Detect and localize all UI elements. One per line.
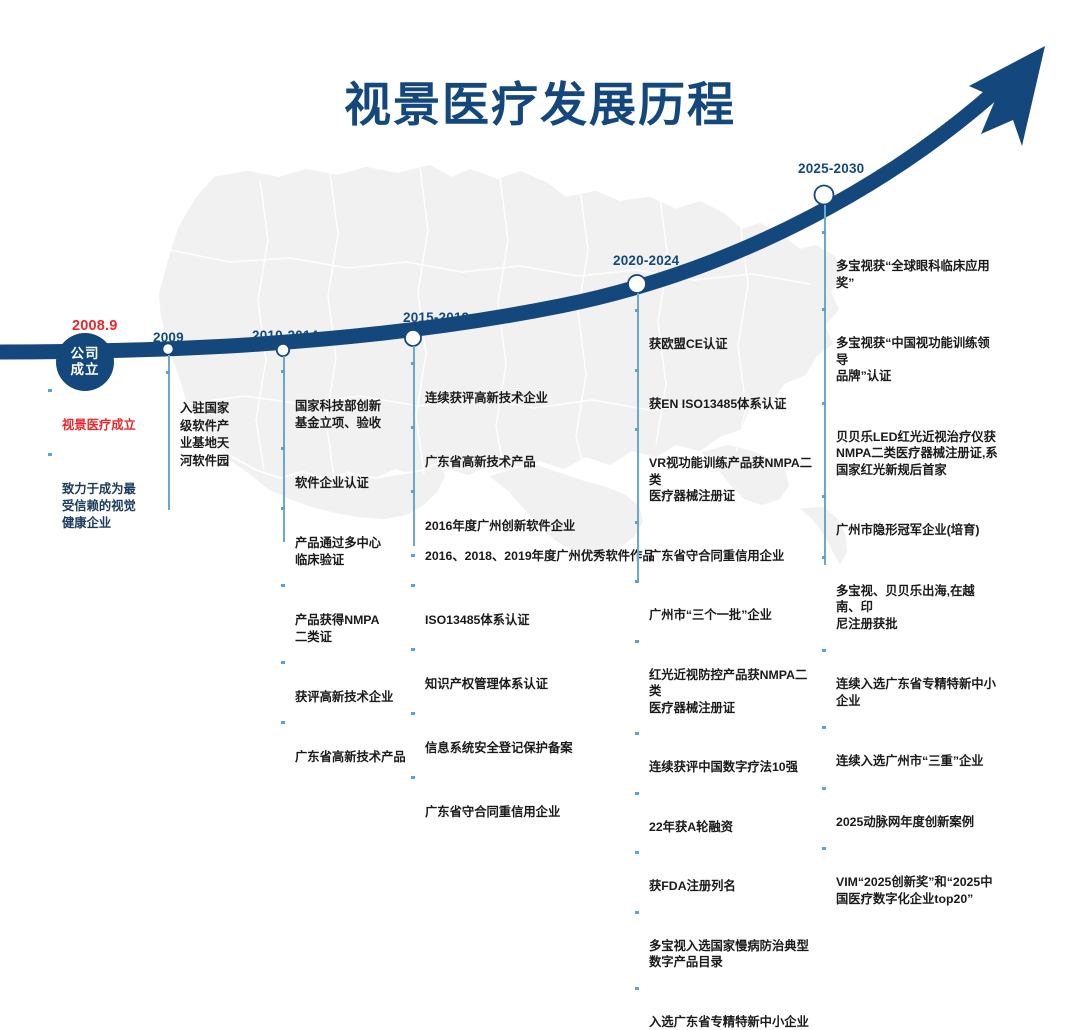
list-item: 产品获得NMPA 二类证 [283, 578, 419, 646]
list-item-text: 2016年度广州创新软件企业 [425, 519, 575, 533]
bullet-icon [635, 640, 638, 643]
bullet-icon [822, 556, 825, 559]
list-item-text: 22年获A轮融资 [649, 820, 733, 834]
list-item: 广东省高新技术产品 [413, 420, 613, 471]
list-item: 多宝视、贝贝乐出海,在越南、印 尼注册获批 [824, 550, 999, 633]
list-item-text: 知识产权管理体系认证 [425, 677, 548, 691]
list-item-text: 广州市隐形冠军企业(培育) [836, 523, 979, 537]
bullet-icon [635, 851, 638, 854]
list-item-text: 连续获评中国数字疗法10强 [649, 760, 798, 774]
bullet-icon [635, 792, 638, 795]
list-item-text: 多宝视获“全球眼科临床应用奖” [836, 259, 990, 290]
list-item-text: 视景医疗成立 [62, 418, 136, 432]
list-item-text: 多宝视、贝贝乐出海,在越南、印 尼注册获批 [836, 584, 975, 631]
founding-node-line2: 成立 [71, 362, 100, 378]
list-item-text: 连续入选广东省专精特新中小 企业 [836, 677, 996, 708]
list-item: 连续入选广州市“三重”企业 [824, 720, 999, 770]
timeline-infographic: 视景医疗发展历程 2008.9 公司 成立 视景医疗成立 致力于成为最 受信赖的… [0, 0, 1080, 609]
list-item: 红光近视防控产品获NMPA二类 医疗器械注册证 [637, 634, 817, 717]
list-item: 广东省高新技术产品 [283, 715, 419, 766]
bullet-icon [281, 584, 284, 587]
list-item: 产品通过多中心 临床验证 [283, 501, 419, 569]
list-item-text: 信息系统安全登记保护备案 [425, 741, 573, 755]
bullet-icon [635, 309, 638, 312]
list-item: 致力于成为最 受信赖的视觉 健康企业 [50, 447, 170, 532]
list-item-text: 产品获得NMPA 二类证 [295, 613, 379, 644]
bullet-icon [48, 453, 51, 456]
bullet-icon [635, 369, 638, 372]
year-label-2010-2014: 2010-2014 [252, 328, 318, 343]
list-item: 连续获评高新技术企业 [413, 356, 613, 407]
list-item-text: 获评高新技术企业 [295, 690, 393, 704]
bullet-icon [411, 776, 414, 779]
bullet-icon [822, 402, 825, 405]
list-item-text: 连续获评高新技术企业 [425, 391, 548, 405]
list-item-text: 获FDA注册列名 [649, 879, 736, 893]
list-item-text: 2016、2018、2019年度广州优秀软件作品 [425, 549, 655, 563]
node-ring-2009 [162, 343, 173, 354]
list-item: 广东省守合同重信用企业 [637, 515, 817, 565]
bullet-icon [411, 712, 414, 715]
list-item-text: 广州市“三个一批”企业 [649, 608, 772, 622]
bullet-icon [822, 495, 825, 498]
node-ring-2015-2019 [405, 330, 421, 346]
list-item-text: 获EN ISO13485体系认证 [649, 397, 786, 411]
list-item: 2025动脉网年度创新案例 [824, 781, 999, 831]
list-item-text: 广东省守合同重信用企业 [649, 549, 784, 563]
bullet-icon [281, 370, 284, 373]
year-label-2009: 2009 [153, 330, 184, 345]
list-item-text: 软件企业认证 [295, 476, 369, 490]
list-item: 软件企业认证 [283, 441, 419, 492]
node-ring-2025-2030 [815, 186, 834, 205]
list-item-text: ISO13485体系认证 [425, 613, 530, 627]
bullet-icon [281, 447, 284, 450]
year-label-2008: 2008.9 [72, 318, 118, 334]
list-item-text: 多宝视入选国家慢病防治典型 数字产品目录 [649, 939, 809, 970]
list-item: 入驻国家 级软件产 业基地天 河软件园 [168, 365, 230, 470]
list-item: VR视功能训练产品获NMPA二类 医疗器械注册证 [637, 422, 817, 505]
bullet-icon [822, 847, 825, 850]
list-item-text: 2025动脉网年度创新案例 [836, 815, 974, 829]
list-item-text: 贝贝乐LED红光近视治疗仪获 NMPA二类医疗器械注册证,系 国家红光新规后首家 [836, 430, 998, 477]
bullet-icon [822, 787, 825, 790]
list-item: 广州市隐形冠军企业(培育) [824, 489, 999, 539]
list-item-text: 入选广东省专精特新中小企业 [649, 1015, 809, 1029]
bullet-icon [822, 231, 825, 234]
bullet-icon [411, 490, 414, 493]
list-item: 连续获评中国数字疗法10强 [637, 726, 817, 776]
list-item: 贝贝乐LED红光近视治疗仪获 NMPA二类医疗器械注册证,系 国家红光新规后首家 [824, 396, 999, 479]
bullet-icon [411, 554, 414, 557]
bullet-icon [166, 371, 169, 374]
bullet-icon [281, 507, 284, 510]
list-item: 广东省守合同重信用企业 [413, 770, 613, 821]
list-item-text: 国家科技部创新 基金立项、验收 [295, 399, 381, 430]
list-item-text: 广东省高新技术产品 [425, 455, 536, 469]
list-item: 获评高新技术企业 [283, 655, 419, 706]
bullet-icon [411, 648, 414, 651]
list-item: VIM“2025创新奖”和“2025中 国医疗数字化企业top20” [824, 841, 999, 907]
list-item: 连续入选广东省专精特新中小 企业 [824, 643, 999, 709]
year-label-2015-2019: 2015-2019 [403, 310, 469, 325]
bullet-icon [822, 308, 825, 311]
list-item: 多宝视获“中国视功能训练领导 品牌”认证 [824, 302, 999, 385]
bullet-icon [635, 732, 638, 735]
list-item-text: 获欧盟CE认证 [649, 337, 728, 351]
year-label-2025-2030: 2025-2030 [798, 161, 864, 176]
list-item: 多宝视获“全球眼科临床应用奖” [824, 225, 999, 291]
list-item: 2016年度广州创新软件企业 [413, 484, 613, 535]
bullet-icon [48, 389, 51, 392]
list-item: 入选广东省专精特新中小企业 [637, 981, 817, 1030]
list-item: 22年获A轮融资 [637, 786, 817, 836]
list-item: ISO13485体系认证 [413, 578, 613, 629]
list-item: 获EN ISO13485体系认证 [637, 363, 817, 413]
bullet-icon [822, 726, 825, 729]
list-item-text: 连续入选广州市“三重”企业 [836, 754, 984, 768]
list-item: 获欧盟CE认证 [637, 303, 817, 353]
bullet-icon [635, 521, 638, 524]
bullet-icon [281, 661, 284, 664]
year-label-2020-2024: 2020-2024 [613, 253, 679, 268]
bullet-icon [411, 584, 414, 587]
bullet-icon [635, 911, 638, 914]
founding-node-line1: 公司 [71, 346, 100, 362]
bullet-icon [635, 580, 638, 583]
bullet-icon [281, 721, 284, 724]
list-item-text: VIM“2025创新奖”和“2025中 国医疗数字化企业top20” [836, 875, 993, 906]
bullet-icon [635, 987, 638, 990]
list-item-text: 入驻国家 级软件产 业基地天 河软件园 [180, 401, 229, 468]
list-item-text: 致力于成为最 受信赖的视觉 健康企业 [62, 482, 136, 530]
bullet-icon [411, 426, 414, 429]
list-item-text: VR视功能训练产品获NMPA二类 医疗器械注册证 [649, 456, 812, 503]
list-item-text: 广东省守合同重信用企业 [425, 805, 560, 819]
list-item-text: 红光近视防控产品获NMPA二类 医疗器械注册证 [649, 668, 807, 715]
list-item: 广州市“三个一批”企业 [637, 574, 817, 624]
list-item: 获FDA注册列名 [637, 845, 817, 895]
bullet-icon [411, 362, 414, 365]
list-item: 信息系统安全登记保护备案 [413, 706, 613, 757]
bullet-icon [822, 649, 825, 652]
list-item-text: 广东省高新技术产品 [295, 750, 406, 764]
list-item: 国家科技部创新 基金立项、验收 [283, 364, 419, 432]
page-title: 视景医疗发展历程 [0, 66, 1080, 135]
list-item: 2016、2018、2019年度广州优秀软件作品 [413, 548, 613, 565]
list-item: 视景医疗成立 [50, 383, 170, 434]
list-item-text: 产品通过多中心 临床验证 [295, 536, 381, 567]
list-item-text: 多宝视获“中国视功能训练领导 品牌”认证 [836, 336, 990, 383]
node-ring-2020-2024 [628, 275, 646, 293]
list-item: 多宝视入选国家慢病防治典型 数字产品目录 [637, 905, 817, 971]
bullet-icon [635, 428, 638, 431]
list-item: 知识产权管理体系认证 [413, 642, 613, 693]
node-ring-2010-2014 [277, 344, 289, 356]
